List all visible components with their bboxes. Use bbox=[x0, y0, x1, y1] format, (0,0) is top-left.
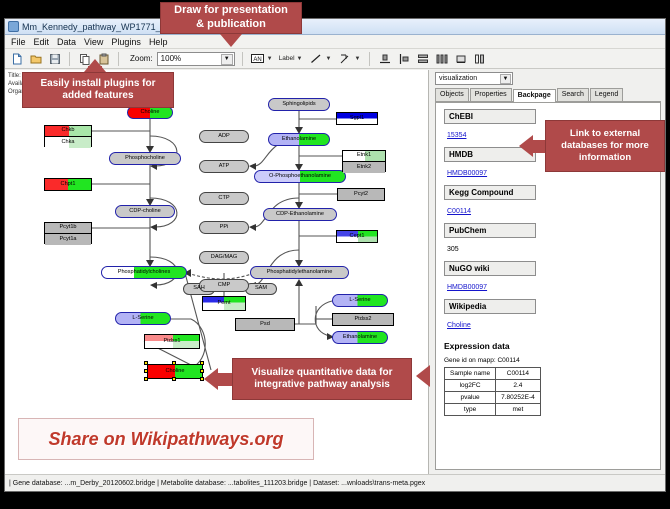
node-group-etnk[interactable]: Etnk1 Etnk2 bbox=[342, 150, 386, 172]
node-chpt1[interactable]: Chpt1 bbox=[44, 178, 92, 191]
link-hmdb[interactable]: HMDB00097 bbox=[447, 170, 487, 177]
zoom-select[interactable]: 100% ▼ bbox=[157, 52, 235, 66]
node-ethanolamine-bottom[interactable]: Ethanolamine bbox=[332, 331, 388, 344]
node-label: Choline bbox=[141, 110, 160, 116]
node-chkb[interactable]: Chkb bbox=[45, 126, 91, 137]
side-panel-tabs: Objects Properties Backpage Search Legen… bbox=[435, 89, 661, 102]
node-sam[interactable]: SAM bbox=[245, 283, 277, 295]
node-o-phosphoethanolamine[interactable]: O-Phosphoethanolamine bbox=[254, 170, 346, 183]
node-sphingolipids[interactable]: Sphingolipids bbox=[268, 98, 330, 111]
node-phosphocholine[interactable]: Phosphocholine bbox=[109, 152, 181, 165]
node-label: Ptdss1 bbox=[163, 339, 180, 345]
chevron-down-icon[interactable]: ▼ bbox=[297, 56, 303, 62]
node-ctp[interactable]: CTP bbox=[199, 192, 249, 205]
selection-handle[interactable] bbox=[144, 361, 148, 365]
tab-legend[interactable]: Legend bbox=[590, 88, 623, 101]
status-bar: | Gene database: ...m_Derby_20120602.bri… bbox=[5, 474, 665, 491]
tab-properties[interactable]: Properties bbox=[470, 88, 512, 101]
annotation-plugins: Easily install plugins for added feature… bbox=[22, 72, 174, 108]
section-header-chebi: ChEBI bbox=[444, 109, 536, 124]
node-label: Psd bbox=[260, 322, 270, 328]
annotation-draw-arrow-icon bbox=[220, 34, 242, 47]
section-header-kegg: Kegg Compound bbox=[444, 185, 536, 200]
annotation-text: Visualize quantitative data for integrat… bbox=[241, 367, 403, 392]
node-pemt[interactable]: Pemt bbox=[202, 296, 246, 311]
node-l-serine-right[interactable]: L-Serine bbox=[332, 294, 388, 307]
node-label: Pcyt2 bbox=[354, 192, 368, 198]
expression-data-title: Expression data bbox=[444, 341, 652, 351]
node-label: Chkb bbox=[61, 128, 74, 134]
selection-handle[interactable] bbox=[200, 361, 204, 365]
chevron-down-icon[interactable]: ▼ bbox=[500, 74, 511, 84]
node-label: ATP bbox=[219, 164, 229, 170]
menu-edit[interactable]: Edit bbox=[34, 37, 50, 47]
save-icon[interactable] bbox=[47, 51, 62, 66]
annotation-share: Share on Wikipathways.org bbox=[18, 418, 314, 460]
node-label: Pcyt1b bbox=[59, 225, 76, 231]
value-pubchem: 305 bbox=[447, 246, 459, 253]
node-label: L-Serine bbox=[132, 316, 153, 322]
toolbar-separator bbox=[242, 52, 243, 66]
node-label: CDP-Ethanolamine bbox=[276, 212, 324, 218]
node-label: CDP-choline bbox=[129, 209, 160, 215]
row-key: pvalue bbox=[445, 392, 496, 404]
node-label: PPi bbox=[220, 225, 229, 231]
app-icon bbox=[8, 21, 19, 32]
arrow-icon[interactable] bbox=[337, 51, 352, 66]
node-label: CTP bbox=[218, 196, 229, 202]
annotation-text: Share on Wikipathways.org bbox=[49, 429, 284, 450]
visualization-value: visualization bbox=[439, 75, 477, 82]
gene-id-on-mapp: Gene id on mapp: C00114 bbox=[444, 357, 652, 364]
link-wikipedia[interactable]: Choline bbox=[447, 322, 471, 329]
row-key: log2FC bbox=[445, 380, 496, 392]
node-psd[interactable]: Psd bbox=[235, 318, 295, 331]
node-etnk2[interactable]: Etnk2 bbox=[343, 162, 385, 173]
selection-handle[interactable] bbox=[144, 377, 148, 381]
node-label: Phosphocholine bbox=[125, 156, 165, 162]
node-group-chk[interactable]: Chkb Chka bbox=[44, 125, 92, 147]
tab-search[interactable]: Search bbox=[557, 88, 589, 101]
node-atp[interactable]: ATP bbox=[199, 160, 249, 173]
pathway-canvas[interactable]: Title: Availa Organ bbox=[5, 70, 429, 474]
node-label: O-Phosphoethanolamine bbox=[269, 174, 331, 180]
node-ptdss2[interactable]: Ptdss2 bbox=[332, 313, 394, 326]
align-top-icon[interactable] bbox=[377, 51, 392, 66]
node-pcyt1b[interactable]: Pcyt1b bbox=[45, 223, 91, 234]
node-label: Phosphatidylethanolamine bbox=[267, 270, 333, 276]
menu-help[interactable]: Help bbox=[149, 37, 168, 47]
selection-handle[interactable] bbox=[172, 377, 176, 381]
node-label: SAH bbox=[193, 286, 205, 292]
row-value: met bbox=[496, 404, 541, 416]
node-cdp-ethanolamine[interactable]: CDP-Ethanolamine bbox=[263, 208, 337, 221]
node-label: DAG/MAG bbox=[211, 255, 237, 261]
align-left-icon[interactable] bbox=[396, 51, 411, 66]
node-label: Ptdss2 bbox=[354, 317, 371, 323]
chevron-down-icon[interactable]: ▼ bbox=[221, 54, 233, 65]
annotation-text: Link to external databases for more info… bbox=[554, 128, 656, 164]
menu-bar: File Edit Data View Plugins Help bbox=[5, 35, 665, 49]
selection-handle[interactable] bbox=[172, 361, 176, 365]
node-ppi[interactable]: PPi bbox=[199, 221, 249, 234]
node-pcyt1a[interactable]: Pcyt1a bbox=[45, 234, 91, 245]
node-chka[interactable]: Chka bbox=[45, 137, 91, 148]
toolbar-separator bbox=[118, 52, 119, 66]
menu-file[interactable]: File bbox=[11, 37, 26, 47]
distribute-icon[interactable] bbox=[434, 51, 449, 66]
ungroup-icon[interactable] bbox=[472, 51, 487, 66]
title-bar: Mm_Kennedy_pathway_WP1771_45176.gpml bbox=[5, 19, 665, 35]
table-row: pvalue 7.80252E-4 bbox=[445, 392, 541, 404]
node-label: L-Serine bbox=[349, 298, 370, 304]
row-value: 7.80252E-4 bbox=[496, 392, 541, 404]
node-label: Etnk2 bbox=[357, 165, 371, 171]
node-ethanolamine-top[interactable]: Ethanolamine bbox=[268, 133, 330, 146]
toolbar-separator bbox=[69, 52, 70, 66]
expression-data-table: Sample name C00114 log2FC 2.4 pvalue 7.8… bbox=[444, 367, 541, 416]
node-label: Pemt bbox=[217, 301, 230, 307]
svg-text:AN: AN bbox=[253, 57, 261, 63]
section-header-wikipedia: Wikipedia bbox=[444, 299, 536, 314]
menu-view[interactable]: View bbox=[84, 37, 103, 47]
datanode-icon[interactable]: AN bbox=[250, 51, 265, 66]
link-chebi[interactable]: 15354 bbox=[447, 132, 466, 139]
table-row: type met bbox=[445, 404, 541, 416]
stack-icon[interactable] bbox=[415, 51, 430, 66]
node-label: Pcyt1a bbox=[59, 237, 76, 243]
node-l-serine-left[interactable]: L-Serine bbox=[115, 312, 171, 325]
node-dag-mag[interactable]: DAG/MAG bbox=[199, 251, 249, 264]
chevron-down-icon[interactable]: ▼ bbox=[267, 56, 273, 62]
node-group-pcyt1[interactable]: Pcyt1b Pcyt1a bbox=[44, 222, 92, 244]
table-row: Sample name C00114 bbox=[445, 368, 541, 380]
node-label: Choline bbox=[166, 369, 185, 375]
annotation-expression-arrow-icon bbox=[416, 365, 430, 387]
screenshot-root: Mm_Kennedy_pathway_WP1771_45176.gpml Fil… bbox=[0, 0, 670, 509]
node-label: Etnk1 bbox=[357, 153, 371, 159]
open-icon[interactable] bbox=[28, 51, 43, 66]
node-label: Ethanolamine bbox=[282, 137, 316, 143]
node-label: Phosphatidylcholines bbox=[118, 270, 171, 276]
node-label: CMP bbox=[218, 283, 230, 289]
link-nugo-wiki[interactable]: HMDB00097 bbox=[447, 284, 487, 291]
node-cept1[interactable]: Cept1 bbox=[336, 230, 378, 243]
annotation-text: Draw for presentation & publication bbox=[169, 4, 293, 32]
row-value: 2.4 bbox=[496, 380, 541, 392]
annotation-visualize: Visualize quantitative data for integrat… bbox=[232, 358, 412, 400]
group-icon[interactable] bbox=[453, 51, 468, 66]
chevron-down-icon[interactable]: ▼ bbox=[354, 56, 360, 62]
row-key: Sample name bbox=[445, 368, 496, 380]
node-etnk1[interactable]: Etnk1 bbox=[343, 151, 385, 162]
selection-handle[interactable] bbox=[144, 369, 148, 373]
node-pcyt2[interactable]: Pcyt2 bbox=[337, 188, 385, 201]
section-header-pubchem: PubChem bbox=[444, 223, 536, 238]
node-phosphatidylethanolamine[interactable]: Phosphatidylethanolamine bbox=[250, 266, 349, 279]
node-label: Chka bbox=[61, 140, 74, 146]
node-label: Sphingolipids bbox=[282, 102, 315, 108]
annotation-draw: Draw for presentation & publication bbox=[160, 2, 302, 34]
node-label: SAM bbox=[255, 286, 267, 292]
node-sgpl1[interactable]: Sgpl1 bbox=[336, 112, 378, 125]
zoom-value: 100% bbox=[161, 54, 181, 63]
annotation-link: Link to external databases for more info… bbox=[545, 120, 665, 172]
node-label: Cept1 bbox=[350, 234, 365, 240]
tab-objects[interactable]: Objects bbox=[435, 88, 469, 101]
status-text: | Gene database: ...m_Derby_20120602.bri… bbox=[9, 480, 425, 487]
toolbar-separator bbox=[369, 52, 370, 66]
node-label: Sgpl1 bbox=[350, 116, 364, 122]
section-header-nugo-wiki: NuGO wiki bbox=[444, 261, 536, 276]
tab-backpage[interactable]: Backpage bbox=[513, 89, 556, 102]
zoom-label: Zoom: bbox=[130, 54, 153, 63]
node-label: Ethanolamine bbox=[343, 335, 377, 341]
annotation-text: Easily install plugins for added feature… bbox=[31, 78, 165, 103]
menu-plugins[interactable]: Plugins bbox=[111, 37, 141, 47]
menu-data[interactable]: Data bbox=[57, 37, 76, 47]
node-phosphatidylcholines[interactable]: Phosphatidylcholines bbox=[101, 266, 187, 279]
node-ptdss1[interactable]: Ptdss1 bbox=[144, 334, 200, 349]
line-icon[interactable] bbox=[308, 51, 323, 66]
node-label: ADP bbox=[218, 134, 230, 140]
new-icon[interactable] bbox=[9, 51, 24, 66]
node-adp[interactable]: ADP bbox=[199, 130, 249, 143]
chevron-down-icon[interactable]: ▼ bbox=[325, 56, 331, 62]
node-cmp[interactable]: CMP bbox=[199, 279, 249, 292]
node-label: Chpt1 bbox=[61, 182, 76, 188]
row-key: type bbox=[445, 404, 496, 416]
label-tool-label: Label bbox=[279, 55, 295, 62]
table-row: log2FC 2.4 bbox=[445, 380, 541, 392]
node-cdp-choline[interactable]: CDP-choline bbox=[115, 205, 175, 218]
visualization-select[interactable]: visualization ▼ bbox=[435, 72, 513, 85]
link-kegg[interactable]: C00114 bbox=[447, 208, 471, 215]
row-value: C00114 bbox=[496, 368, 541, 380]
